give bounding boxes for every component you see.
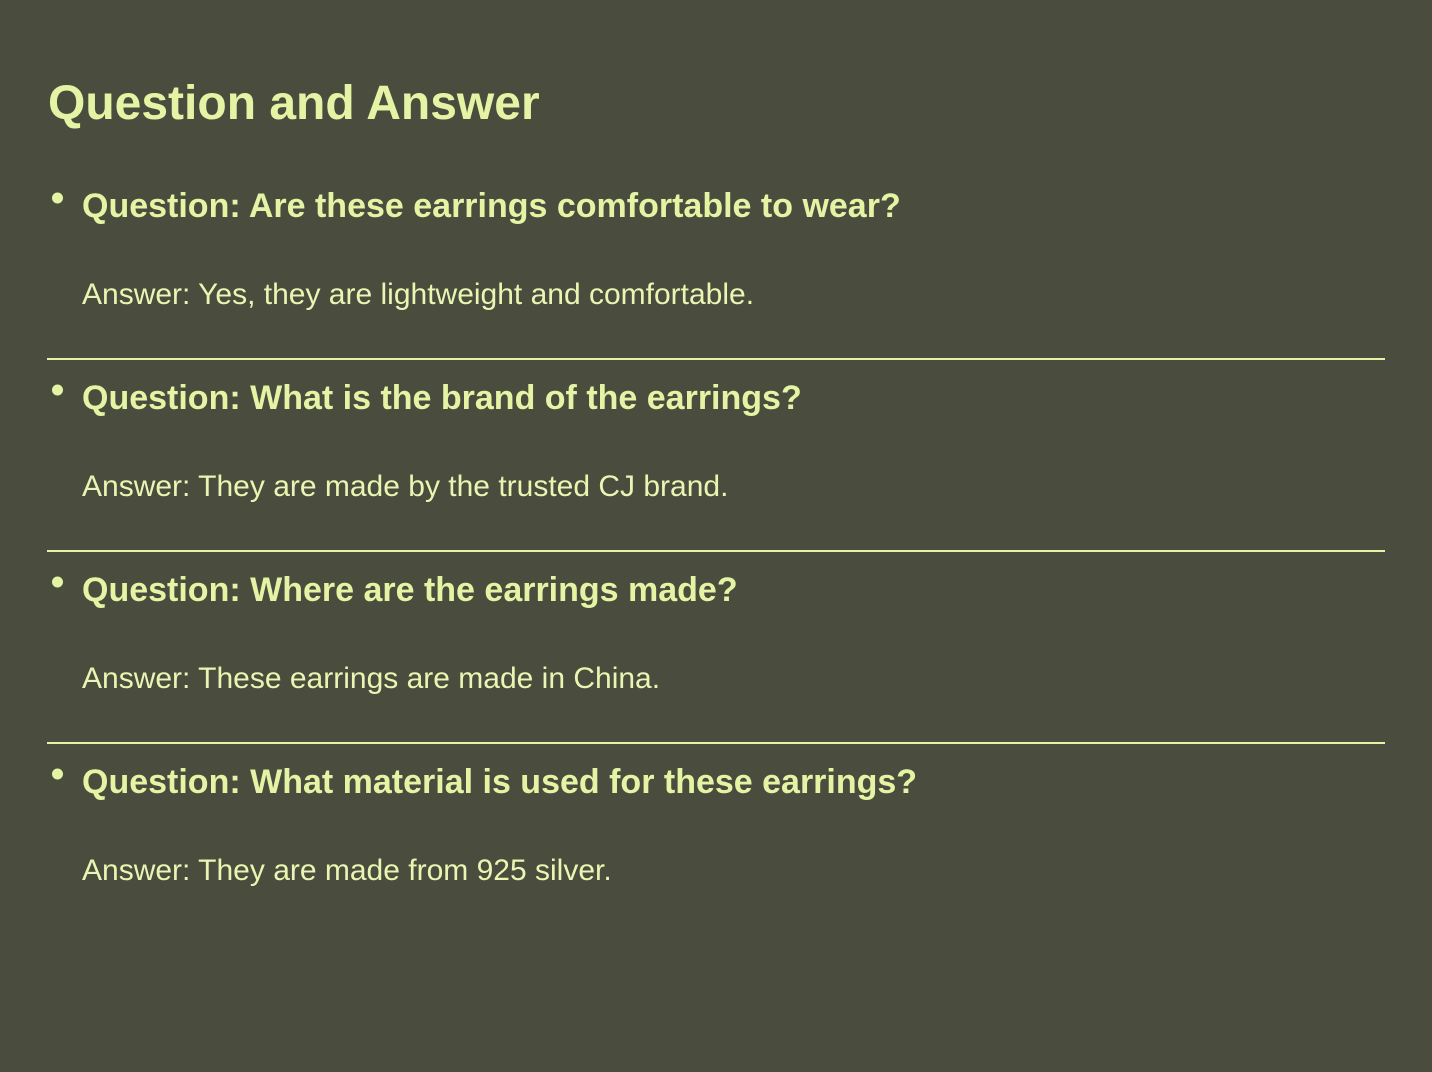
qa-question-row: Question: What material is used for thes… [0,744,1432,804]
qa-question-row: Question: Are these earrings comfortable… [0,168,1432,228]
bullet-icon [52,577,63,588]
qa-question-text: Question: Where are the earrings made? [82,571,738,609]
bullet-icon [52,193,63,204]
qa-question-text: Question: What is the brand of the earri… [82,379,802,417]
qa-item: Question: Are these earrings comfortable… [0,168,1432,360]
qa-question-row: Question: Where are the earrings made? [0,552,1432,612]
qa-answer-text: Answer: These earrings are made in China… [0,612,1432,698]
page-title: Question and Answer [48,76,540,131]
qa-answer-text: Answer: Yes, they are lightweight and co… [0,228,1432,314]
qa-page: Question and Answer Question: Are these … [0,0,1432,1072]
qa-item: Question: Where are the earrings made? A… [0,552,1432,744]
qa-answer-text: Answer: They are made from 925 silver. [0,804,1432,890]
bullet-icon [52,769,63,780]
qa-question-text: Question: What material is used for thes… [82,763,917,801]
qa-question-row: Question: What is the brand of the earri… [0,360,1432,420]
qa-item: Question: What material is used for thes… [0,744,1432,890]
qa-question-text: Question: Are these earrings comfortable… [82,187,901,225]
bullet-icon [52,385,63,396]
qa-answer-text: Answer: They are made by the trusted CJ … [0,420,1432,506]
qa-list: Question: Are these earrings comfortable… [0,168,1432,890]
qa-item: Question: What is the brand of the earri… [0,360,1432,552]
